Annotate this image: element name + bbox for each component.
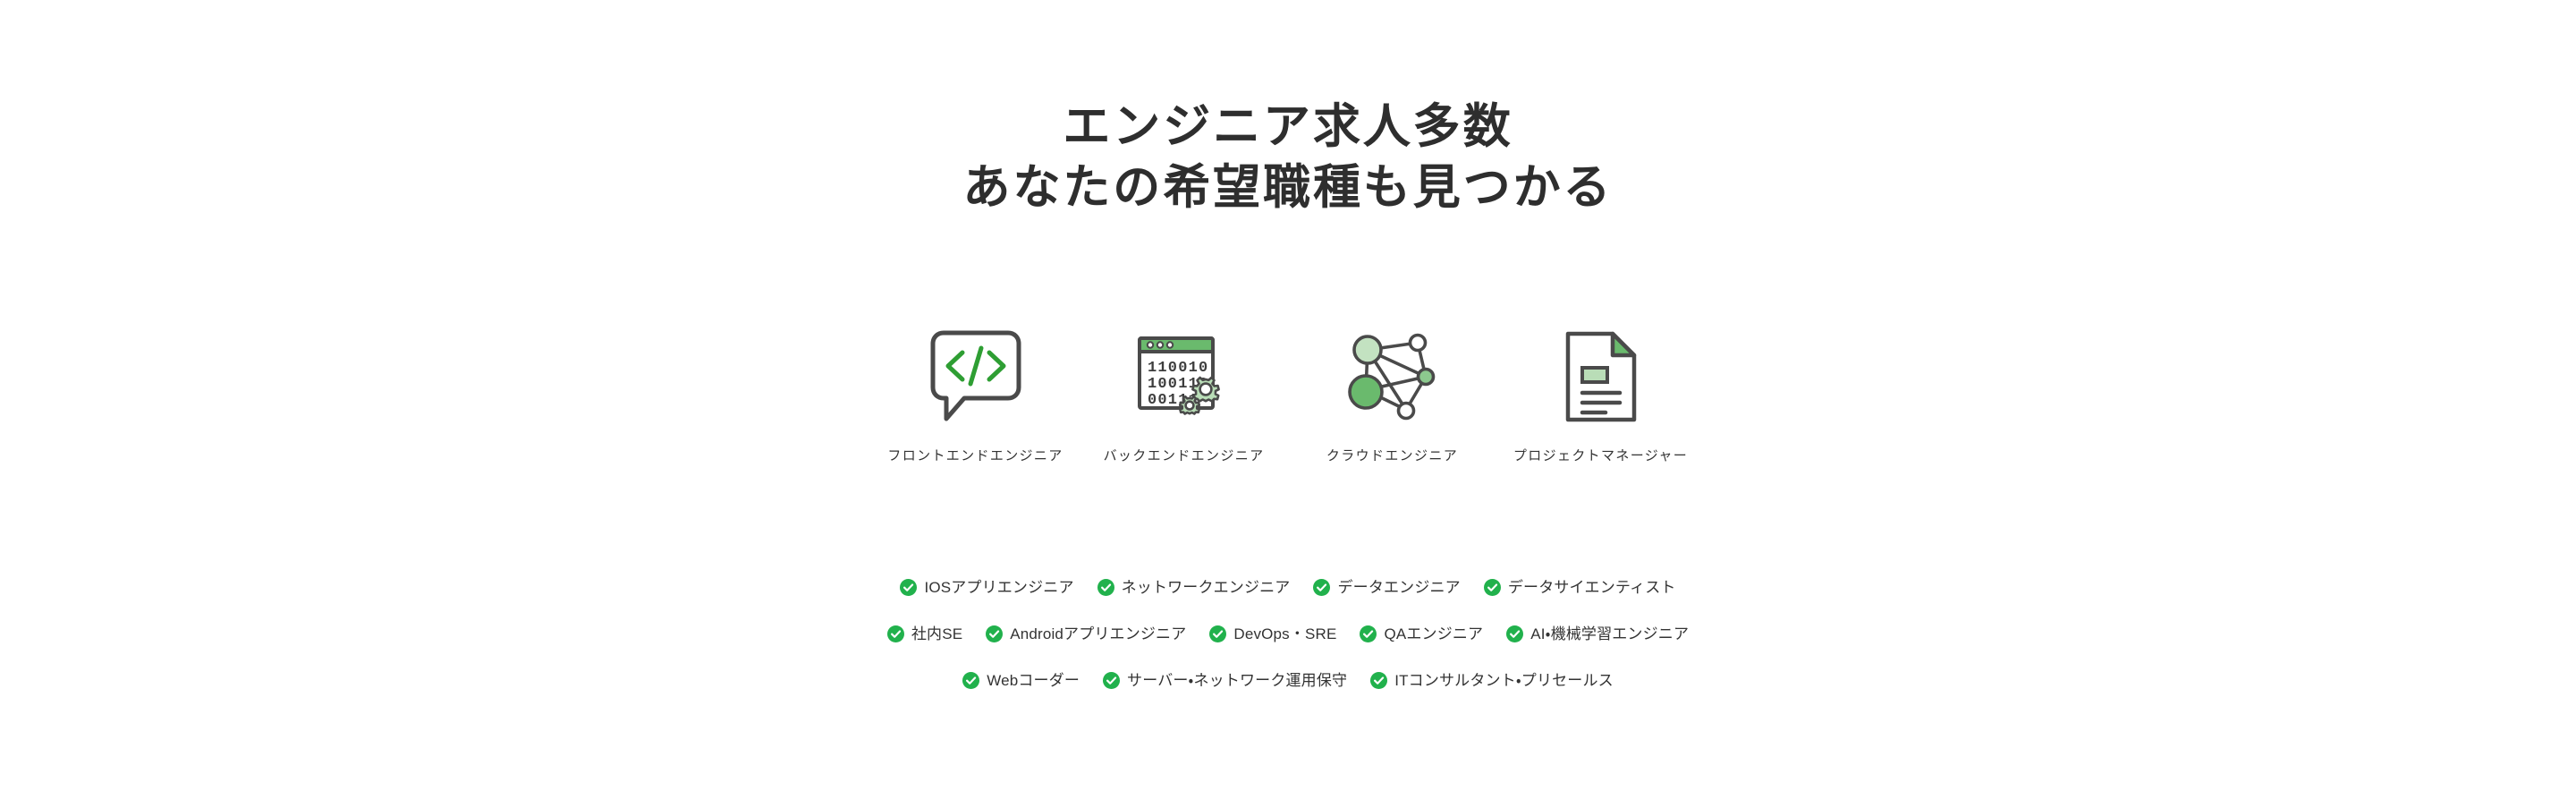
category-label: バックエンドエンジニア <box>1104 448 1265 464</box>
category-icon-row: フロントエンドエンジニア 110010 100110 00111 <box>884 320 1692 464</box>
job-tag[interactable]: サーバー・ネットワーク運用保守 <box>1103 672 1347 689</box>
job-tag-label: DevOps・SRE <box>1233 626 1336 642</box>
page-title: エンジニア求人多数 あなたの希望職種も見つかる <box>0 97 2576 218</box>
check-circle-icon <box>1209 625 1226 642</box>
check-circle-icon <box>986 625 1003 642</box>
job-tag-label: Androidアプリエンジニア <box>1010 626 1186 642</box>
category-label: プロジェクトマネージャー <box>1513 448 1688 464</box>
check-circle-icon <box>1370 672 1387 689</box>
job-tag-label: データエンジニア <box>1337 580 1460 595</box>
category-cloud-engineer[interactable]: クラウドエンジニア <box>1301 320 1484 464</box>
job-tag[interactable]: データエンジニア <box>1313 579 1460 596</box>
binary-browser-gear-icon: 110010 100110 00111 <box>1117 320 1251 432</box>
heading-line-2: あなたの希望職種も見つかる <box>0 157 2576 218</box>
code-speech-bubble-icon <box>909 320 1043 432</box>
category-frontend-engineer[interactable]: フロントエンドエンジニア <box>884 320 1067 464</box>
category-label: クラウドエンジニア <box>1326 448 1458 464</box>
job-tag-label: 社内SE <box>911 626 962 642</box>
job-tag-label: サーバー・ネットワーク運用保守 <box>1127 673 1347 688</box>
check-circle-icon <box>1484 579 1501 596</box>
check-circle-icon <box>962 672 979 689</box>
category-project-manager[interactable]: プロジェクトマネージャー <box>1509 320 1692 464</box>
check-circle-icon <box>1360 625 1377 642</box>
job-tag[interactable]: AI・機械学習エンジニア <box>1506 625 1689 642</box>
heading-line-1: エンジニア求人多数 <box>0 97 2576 157</box>
check-circle-icon <box>900 579 917 596</box>
job-tag[interactable]: Webコーダー <box>962 672 1080 689</box>
job-tag-row: Webコーダー サーバー・ネットワーク運用保守 ITコンサルタント・プリセールス <box>707 657 1869 703</box>
job-tag[interactable]: DevOps・SRE <box>1209 625 1336 642</box>
category-backend-engineer[interactable]: 110010 100110 00111 バックエンドエンジニア <box>1092 320 1275 464</box>
job-tag-row: IOSアプリエンジニア ネットワークエンジニア データエンジニア データサイエン… <box>707 564 1869 610</box>
job-tag-label: Webコーダー <box>987 673 1080 688</box>
job-tag-label: ネットワークエンジニア <box>1122 580 1291 595</box>
check-circle-icon <box>1103 672 1120 689</box>
job-tag-list: IOSアプリエンジニア ネットワークエンジニア データエンジニア データサイエン… <box>707 564 1869 703</box>
category-label: フロントエンドエンジニア <box>887 448 1063 464</box>
check-circle-icon <box>887 625 904 642</box>
job-tag[interactable]: ネットワークエンジニア <box>1097 579 1291 596</box>
check-circle-icon <box>1313 579 1330 596</box>
binary-line-1: 110010 <box>1148 360 1208 377</box>
network-graph-icon <box>1326 320 1460 432</box>
job-tag[interactable]: Androidアプリエンジニア <box>986 625 1186 642</box>
job-tag[interactable]: ITコンサルタント・プリセールス <box>1370 672 1614 689</box>
job-tag-label: QAエンジニア <box>1384 626 1483 642</box>
job-tag-row: 社内SE Androidアプリエンジニア DevOps・SRE QAエンジニア … <box>707 610 1869 657</box>
check-circle-icon <box>1097 579 1114 596</box>
job-tag-label: ITコンサルタント・プリセールス <box>1394 673 1614 688</box>
document-page-icon <box>1534 320 1668 432</box>
engineer-jobs-section: エンジニア求人多数 あなたの希望職種も見つかる フロントエンドエンジニア <box>0 0 2576 791</box>
job-tag[interactable]: QAエンジニア <box>1360 625 1483 642</box>
job-tag-label: AI・機械学習エンジニア <box>1530 626 1689 642</box>
job-tag[interactable]: データサイエンティスト <box>1484 579 1676 596</box>
job-tag-label: データサイエンティスト <box>1508 580 1676 595</box>
job-tag[interactable]: IOSアプリエンジニア <box>900 579 1073 596</box>
check-circle-icon <box>1506 625 1523 642</box>
job-tag-label: IOSアプリエンジニア <box>924 580 1073 595</box>
job-tag[interactable]: 社内SE <box>887 625 962 642</box>
